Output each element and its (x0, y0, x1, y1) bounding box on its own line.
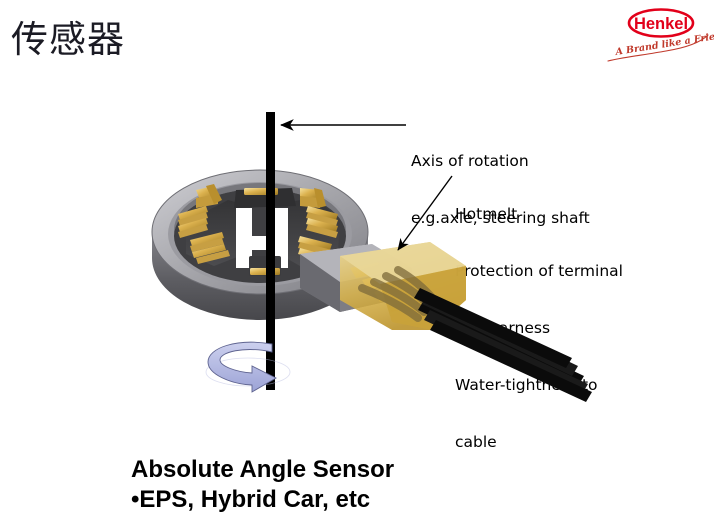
henkel-logo: Henkel A Brand like a Friend (604, 5, 714, 67)
rotation-shaft (266, 112, 275, 390)
annotation-hotmelt-line4: Water-tightness to (455, 376, 623, 395)
stator-block-left (186, 200, 250, 266)
rotation-arrow-guide (206, 358, 290, 386)
housing-inner-cavity (174, 189, 346, 283)
brush-left-fingers-lower (190, 232, 230, 264)
brush-contacts-left (178, 184, 230, 264)
sensor-housing-ring (152, 170, 368, 320)
brush-left-arm-top (196, 186, 218, 200)
henkel-logo-tagline: A Brand like a Friend (614, 29, 714, 58)
connector-top-face (300, 244, 412, 282)
rotation-direction-arrow (206, 342, 290, 392)
housing-top-face (152, 170, 368, 294)
brush-left-arm-top-shadow (196, 194, 218, 208)
henkel-logo-wordmark: Henkel (634, 15, 688, 33)
connector-side-face (300, 254, 340, 312)
rotor-contact-rear (244, 188, 278, 195)
annotation-hotmelt-line1: Hotmelt (455, 205, 623, 224)
hotmelt-front-face (380, 266, 466, 330)
rotor-code-pattern (236, 208, 288, 268)
brush-right-riser (314, 188, 326, 208)
rotor-contact-front (250, 268, 280, 275)
page-title: 传感器 (11, 18, 125, 62)
stator-block-right (272, 198, 340, 266)
brush-right-arm-top-shadow (300, 196, 320, 208)
slide-canvas: 传感器 Henkel A Brand like a Friend Axis of… (0, 0, 726, 532)
brush-right-fingers-lower (298, 236, 332, 262)
hotmelt-embedded-wires (362, 270, 434, 318)
connector-front-face (340, 268, 412, 312)
sensor-stator-blocks (186, 188, 340, 266)
annotation-hotmelt: Hotmelt Protection of terminal and harne… (455, 167, 623, 490)
cavity-wall-highlight (174, 183, 346, 236)
annotation-hotmelt-line5: cable (455, 433, 623, 452)
annotation-hotmelt-line3: and harness (455, 319, 623, 338)
caption-subtitle: •EPS, Hybrid Car, etc (131, 485, 370, 515)
caption-title: Absolute Angle Sensor (131, 455, 394, 485)
housing-outer-edge (152, 170, 368, 294)
housing-outer-sidewall (152, 232, 368, 320)
brush-right-arm-top (300, 188, 320, 200)
connector-body (300, 244, 412, 312)
rotor-segment-front (249, 256, 281, 276)
connector-neck (300, 244, 412, 312)
annotation-hotmelt-line2: Protection of terminal (455, 262, 623, 281)
stator-block-top (234, 188, 296, 208)
brush-right-fingers-upper (306, 206, 338, 238)
housing-rim-step (168, 182, 352, 286)
brush-left-fingers-upper (178, 206, 208, 238)
brush-left-riser (206, 184, 222, 204)
sensor-rotor-track (236, 188, 288, 276)
hotmelt-terminal-pads (350, 262, 424, 312)
rotation-arrow-body (208, 342, 276, 392)
brush-contacts-right (298, 188, 338, 262)
